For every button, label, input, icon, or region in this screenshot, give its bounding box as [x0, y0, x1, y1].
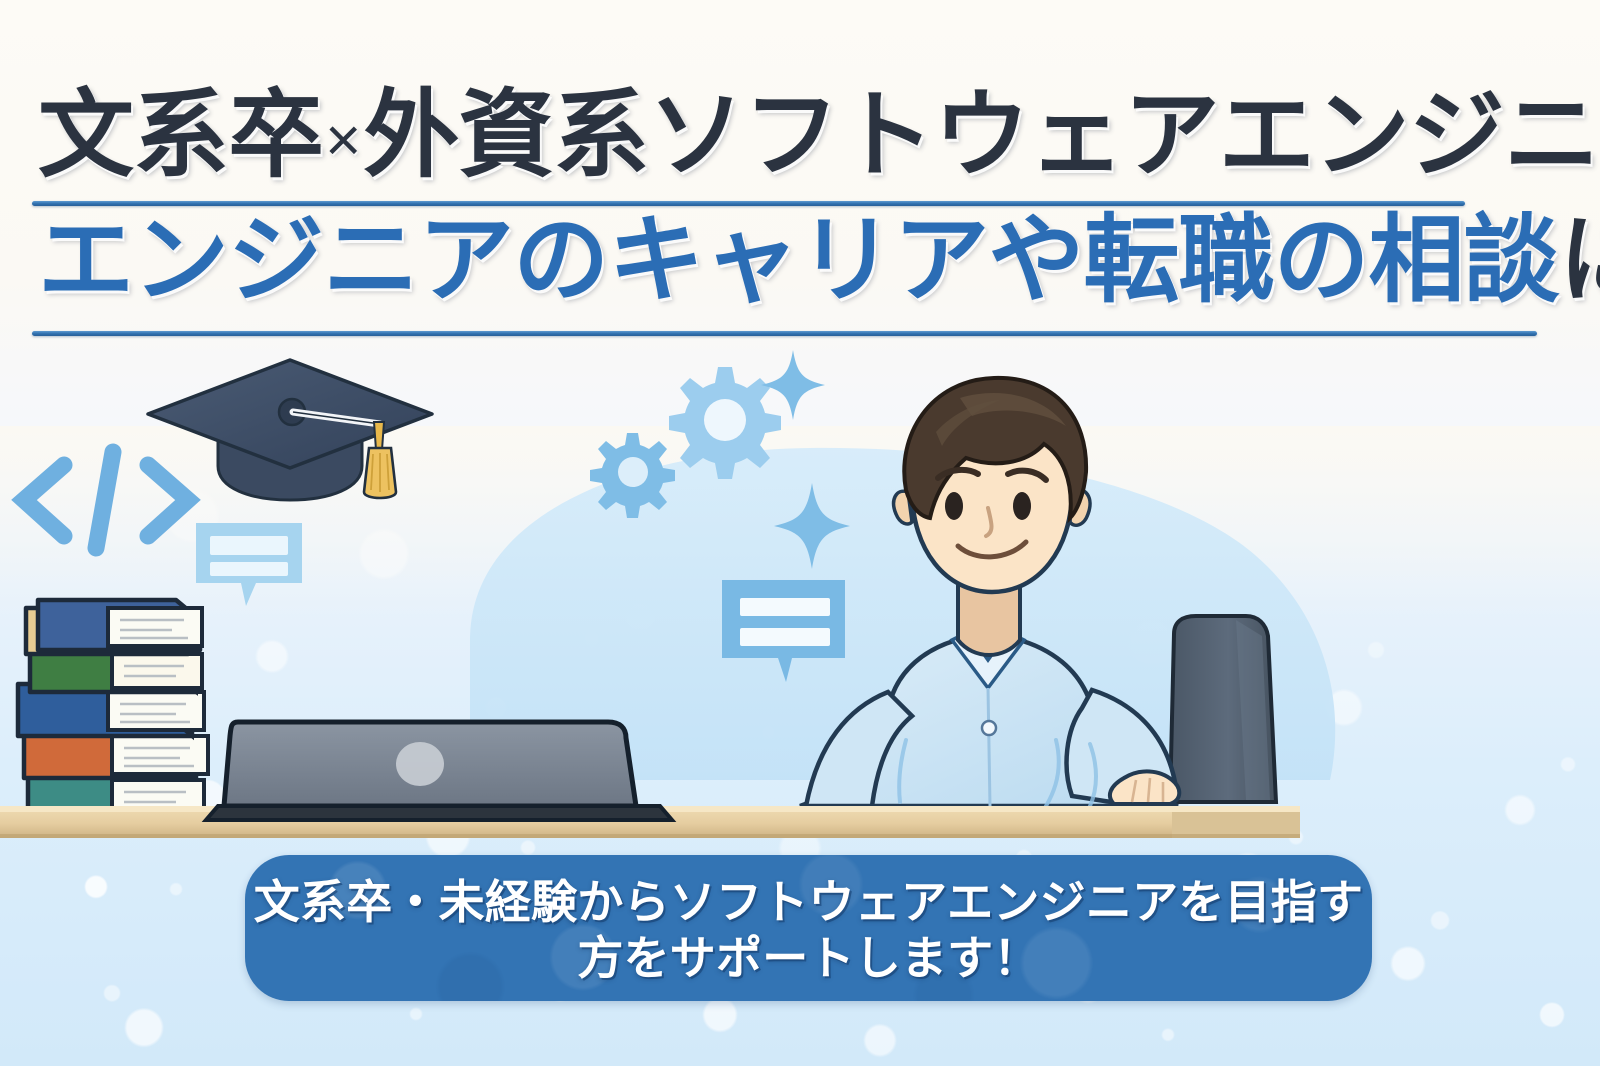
ribbon-line-2: 方をサポートします！ [245, 933, 1372, 985]
sparkle-icon-top [761, 350, 825, 420]
speech-bubble-icon-left [196, 523, 302, 606]
headline-line-1: 文系卒×外資系ソフトウェアエンジニアが、 [38, 88, 1600, 184]
office-chair [1170, 616, 1276, 802]
headline-divider-2 [32, 331, 1537, 336]
book-navy [26, 600, 202, 654]
graduation-cap-icon [148, 360, 432, 500]
illustration [0, 340, 1600, 870]
book-stack [18, 600, 208, 822]
laptop [206, 722, 672, 820]
ribbon-line-1: 文系卒・未経験からソフトウェアエンジニアを目指す [245, 877, 1372, 929]
headline-divider-1 [32, 201, 1465, 206]
gear-icon-large [669, 367, 781, 479]
headline-line1-part1: 文系卒 [38, 82, 323, 189]
headline-line2-tail: にのります [1559, 207, 1600, 314]
headline-line-2: エンジニアのキャリアや転職の相談にのります [38, 213, 1600, 309]
tagline-ribbon: 文系卒・未経験からソフトウェアエンジニアを目指す 方をサポートします！ [245, 855, 1372, 1001]
headline-line1-part2: 外資系ソフトウェアエンジニアが、 [363, 82, 1600, 189]
gear-icon-small [590, 433, 675, 518]
code-brackets-icon [24, 452, 188, 548]
headline-multiply-symbol: × [323, 106, 363, 175]
promotional-banner: 文系卒×外資系ソフトウェアエンジニアが、 エンジニアのキャリアや転職の相談にのり… [0, 0, 1600, 1066]
headline-line2-highlight: エンジニアのキャリアや転職の相談 [38, 207, 1559, 314]
